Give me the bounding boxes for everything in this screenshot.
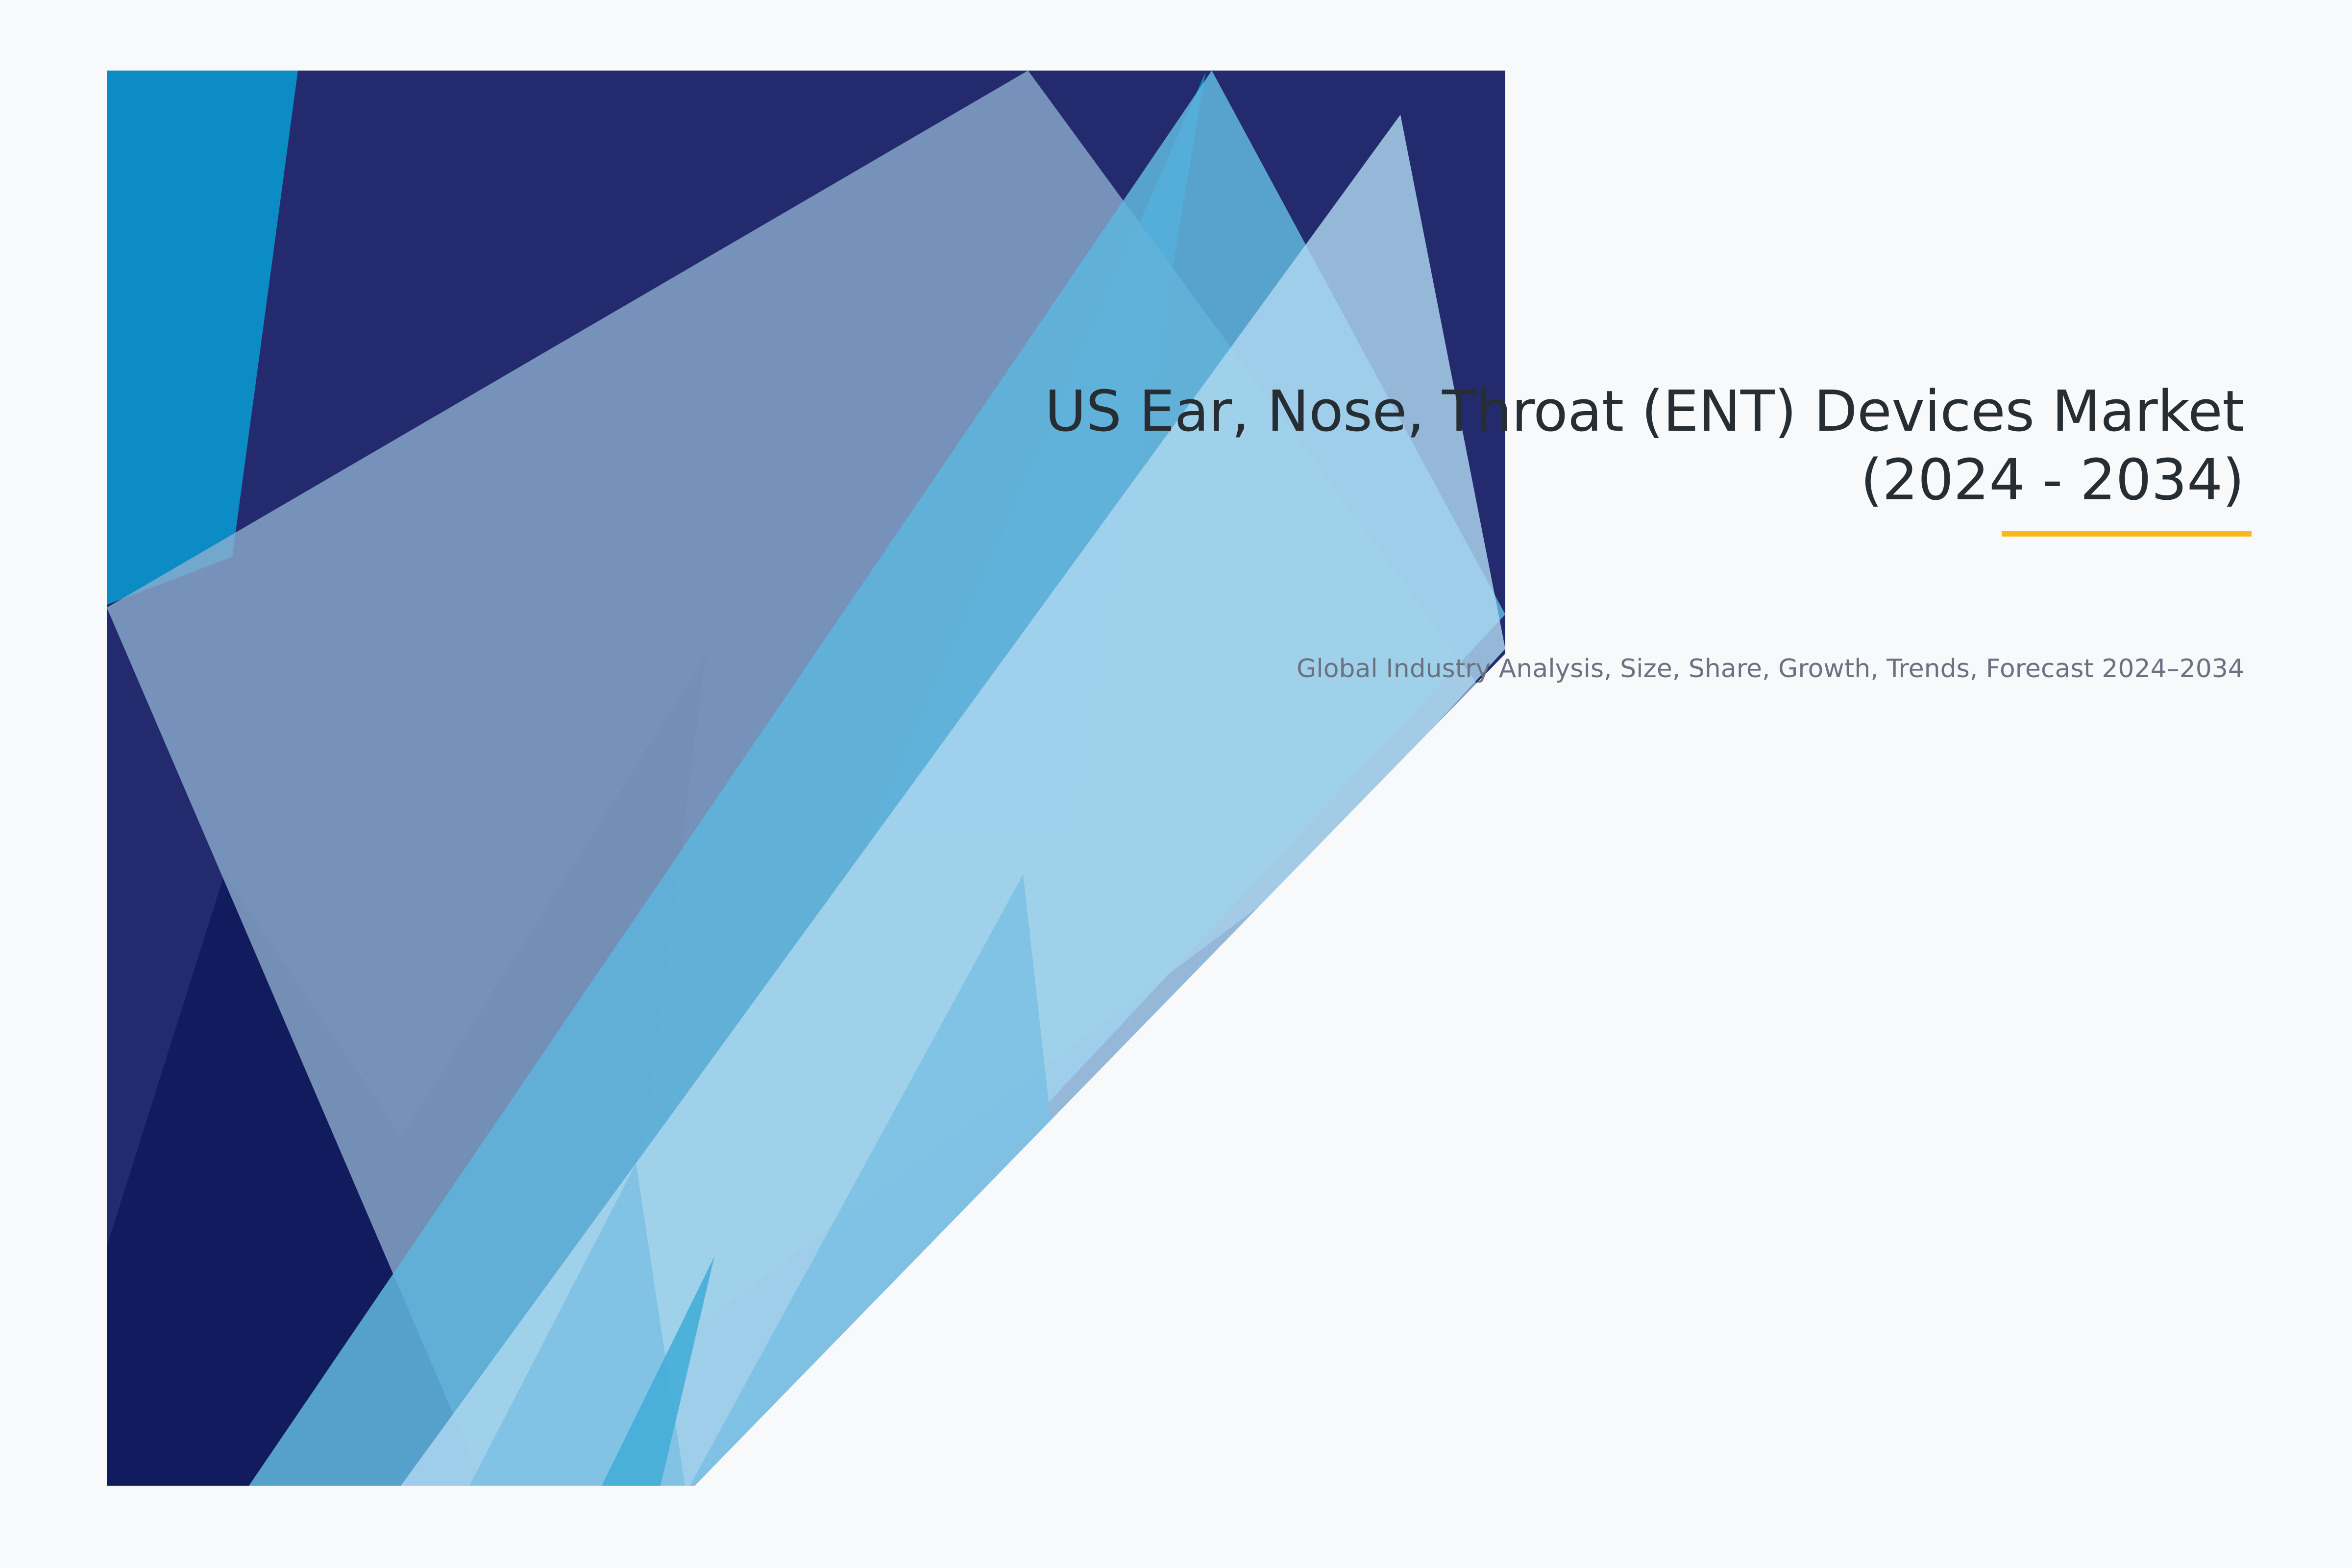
title-block: US Ear, Nose, Throat (ENT) Devices Marke… (921, 377, 2244, 515)
accent-underline (2002, 531, 2252, 537)
page-subtitle: Global Industry Analysis, Size, Share, G… (921, 652, 2244, 687)
cover-artwork (107, 71, 1505, 1486)
page-title: US Ear, Nose, Throat (ENT) Devices Marke… (921, 377, 2244, 515)
artwork-svg (107, 71, 1505, 1486)
cover-page: US Ear, Nose, Throat (ENT) Devices Marke… (0, 0, 2352, 1568)
